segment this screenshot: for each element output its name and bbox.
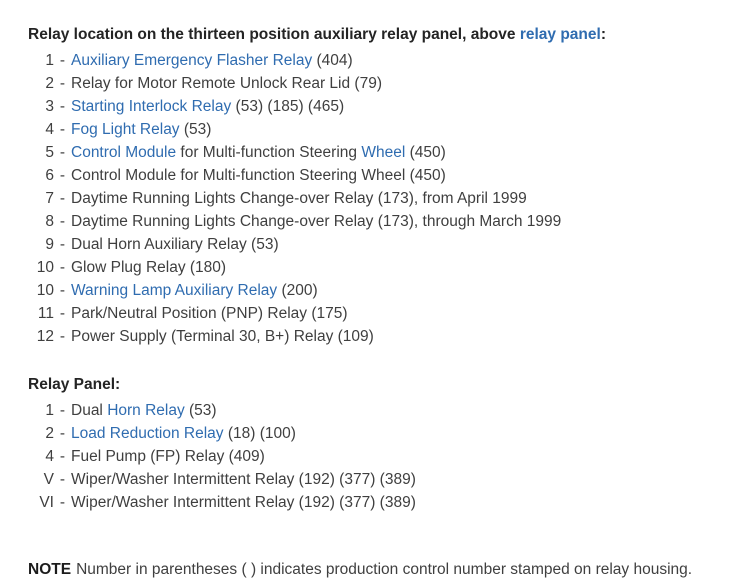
list-item: 9-Dual Horn Auxiliary Relay (53) [28, 233, 736, 256]
row-dash: - [54, 95, 71, 118]
row-label: Dual Horn Auxiliary Relay (53) [71, 233, 279, 256]
row-index: 3 [28, 95, 54, 118]
row-label: Wiper/Washer Intermittent Relay (192) (3… [71, 491, 416, 514]
row-12-text-0: Power Supply (Terminal 30, B+) Relay (10… [71, 328, 374, 345]
row-index: 1 [28, 49, 54, 72]
relay-panel-heading-text-0: Relay Panel: [28, 376, 120, 393]
row-dash: - [54, 118, 71, 141]
row-label: Starting Interlock Relay (53) (185) (465… [71, 95, 344, 118]
row-index: 10 [28, 279, 54, 302]
row-1-link-0[interactable]: Load Reduction Relay [71, 425, 224, 442]
row-10-link-0[interactable]: Warning Lamp Auxiliary Relay [71, 282, 277, 299]
list-item: VI-Wiper/Washer Intermittent Relay (192)… [28, 491, 736, 514]
row-label: Relay for Motor Remote Unlock Rear Lid (… [71, 72, 382, 95]
row-dash: - [54, 72, 71, 95]
list-item: 8-Daytime Running Lights Change-over Rel… [28, 210, 736, 233]
list-item: 7-Daytime Running Lights Change-over Rel… [28, 187, 736, 210]
row-3-text-1: (53) [180, 121, 212, 138]
row-index: 9 [28, 233, 54, 256]
row-dash: - [54, 279, 71, 302]
row-0-text-2: (53) [185, 402, 217, 419]
list-item: 4-Fog Light Relay (53) [28, 118, 736, 141]
row-label: Load Reduction Relay (18) (100) [71, 422, 296, 445]
row-label: Park/Neutral Position (PNP) Relay (175) [71, 302, 348, 325]
note-spacer [28, 514, 736, 542]
list-item: 1-Auxiliary Emergency Flasher Relay (404… [28, 49, 736, 72]
note-label: NOTE [28, 561, 71, 578]
row-index: 12 [28, 325, 54, 348]
relay-panel-heading: Relay Panel: [28, 374, 736, 396]
row-4-text-0: Wiper/Washer Intermittent Relay (192) (3… [71, 494, 416, 511]
aux-panel-heading-text-0: Relay location on the thirteen position … [28, 26, 520, 43]
row-9-text-0: Glow Plug Relay (180) [71, 259, 226, 276]
row-0-link-1[interactable]: Horn Relay [107, 402, 185, 419]
row-label: Power Supply (Terminal 30, B+) Relay (10… [71, 325, 374, 348]
aux-panel-heading: Relay location on the thirteen position … [28, 24, 736, 46]
row-dash: - [54, 302, 71, 325]
row-dash: - [54, 233, 71, 256]
row-0-text-1: (404) [312, 52, 353, 69]
row-6-text-0: Daytime Running Lights Change-over Relay… [71, 190, 527, 207]
relay-panel-list: 1-Dual Horn Relay (53)2-Load Reduction R… [28, 399, 736, 514]
row-label: Daytime Running Lights Change-over Relay… [71, 210, 561, 233]
row-label: Fog Light Relay (53) [71, 118, 211, 141]
row-8-text-0: Dual Horn Auxiliary Relay (53) [71, 236, 279, 253]
row-dash: - [54, 491, 71, 514]
row-index: 11 [28, 302, 54, 325]
row-index: 7 [28, 187, 54, 210]
row-4-text-3: (450) [405, 144, 446, 161]
row-11-text-0: Park/Neutral Position (PNP) Relay (175) [71, 305, 348, 322]
row-2-text-1: (53) (185) (465) [231, 98, 344, 115]
row-0-text-0: Dual [71, 402, 107, 419]
page-root: Relay location on the thirteen position … [0, 0, 748, 570]
list-item: 2-Relay for Motor Remote Unlock Rear Lid… [28, 72, 736, 95]
list-item: 1-Dual Horn Relay (53) [28, 399, 736, 422]
row-dash: - [54, 325, 71, 348]
list-item: 12-Power Supply (Terminal 30, B+) Relay … [28, 325, 736, 348]
row-1-text-0: Relay for Motor Remote Unlock Rear Lid (… [71, 75, 382, 92]
row-dash: - [54, 49, 71, 72]
content-area: Relay location on the thirteen position … [0, 0, 748, 581]
row-dash: - [54, 164, 71, 187]
row-7-text-0: Daytime Running Lights Change-over Relay… [71, 213, 561, 230]
row-index: 2 [28, 72, 54, 95]
row-dash: - [54, 445, 71, 468]
row-label: Warning Lamp Auxiliary Relay (200) [71, 279, 318, 302]
row-dash: - [54, 468, 71, 491]
row-1-text-1: (18) (100) [224, 425, 296, 442]
row-index: 1 [28, 399, 54, 422]
row-label: Control Module for Multi-function Steeri… [71, 141, 446, 164]
row-label: Auxiliary Emergency Flasher Relay (404) [71, 49, 353, 72]
row-10-text-1: (200) [277, 282, 318, 299]
row-dash: - [54, 399, 71, 422]
row-index: 4 [28, 118, 54, 141]
note-text: Number in parentheses ( ) indicates prod… [76, 561, 692, 578]
list-item: 4-Fuel Pump (FP) Relay (409) [28, 445, 736, 468]
row-dash: - [54, 141, 71, 164]
row-index: 8 [28, 210, 54, 233]
row-4-link-2[interactable]: Wheel [361, 144, 405, 161]
row-0-link-0[interactable]: Auxiliary Emergency Flasher Relay [71, 52, 312, 69]
row-4-text-1: for Multi-function Steering [176, 144, 361, 161]
list-item: 5-Control Module for Multi-function Stee… [28, 141, 736, 164]
row-index: V [28, 468, 54, 491]
row-dash: - [54, 422, 71, 445]
row-3-text-0: Wiper/Washer Intermittent Relay (192) (3… [71, 471, 416, 488]
note-line: NOTENumber in parentheses ( ) indicates … [28, 558, 736, 581]
row-label: Control Module for Multi-function Steeri… [71, 164, 446, 187]
row-dash: - [54, 256, 71, 279]
row-index: 5 [28, 141, 54, 164]
aux-panel-heading-link-1[interactable]: relay panel [520, 26, 601, 43]
aux-panel-list: 1-Auxiliary Emergency Flasher Relay (404… [28, 49, 736, 348]
list-item: 11-Park/Neutral Position (PNP) Relay (17… [28, 302, 736, 325]
row-label: Fuel Pump (FP) Relay (409) [71, 445, 265, 468]
row-index: VI [28, 491, 54, 514]
row-index: 6 [28, 164, 54, 187]
row-index: 4 [28, 445, 54, 468]
row-3-link-0[interactable]: Fog Light Relay [71, 121, 180, 138]
list-item: 2-Load Reduction Relay (18) (100) [28, 422, 736, 445]
row-label: Daytime Running Lights Change-over Relay… [71, 187, 527, 210]
list-item: 10-Glow Plug Relay (180) [28, 256, 736, 279]
row-2-link-0[interactable]: Starting Interlock Relay [71, 98, 231, 115]
row-dash: - [54, 210, 71, 233]
row-dash: - [54, 187, 71, 210]
row-index: 10 [28, 256, 54, 279]
aux-panel-heading-text-2: : [601, 26, 606, 43]
row-index: 2 [28, 422, 54, 445]
row-label: Glow Plug Relay (180) [71, 256, 226, 279]
list-item: 3-Starting Interlock Relay (53) (185) (4… [28, 95, 736, 118]
row-2-text-0: Fuel Pump (FP) Relay (409) [71, 448, 265, 465]
list-item: 6-Control Module for Multi-function Stee… [28, 164, 736, 187]
row-5-text-0: Control Module for Multi-function Steeri… [71, 167, 446, 184]
list-item: 10-Warning Lamp Auxiliary Relay (200) [28, 279, 736, 302]
list-item: V-Wiper/Washer Intermittent Relay (192) … [28, 468, 736, 491]
row-label: Wiper/Washer Intermittent Relay (192) (3… [71, 468, 416, 491]
row-label: Dual Horn Relay (53) [71, 399, 217, 422]
row-4-link-0[interactable]: Control Module [71, 144, 176, 161]
section-spacer [28, 348, 736, 374]
